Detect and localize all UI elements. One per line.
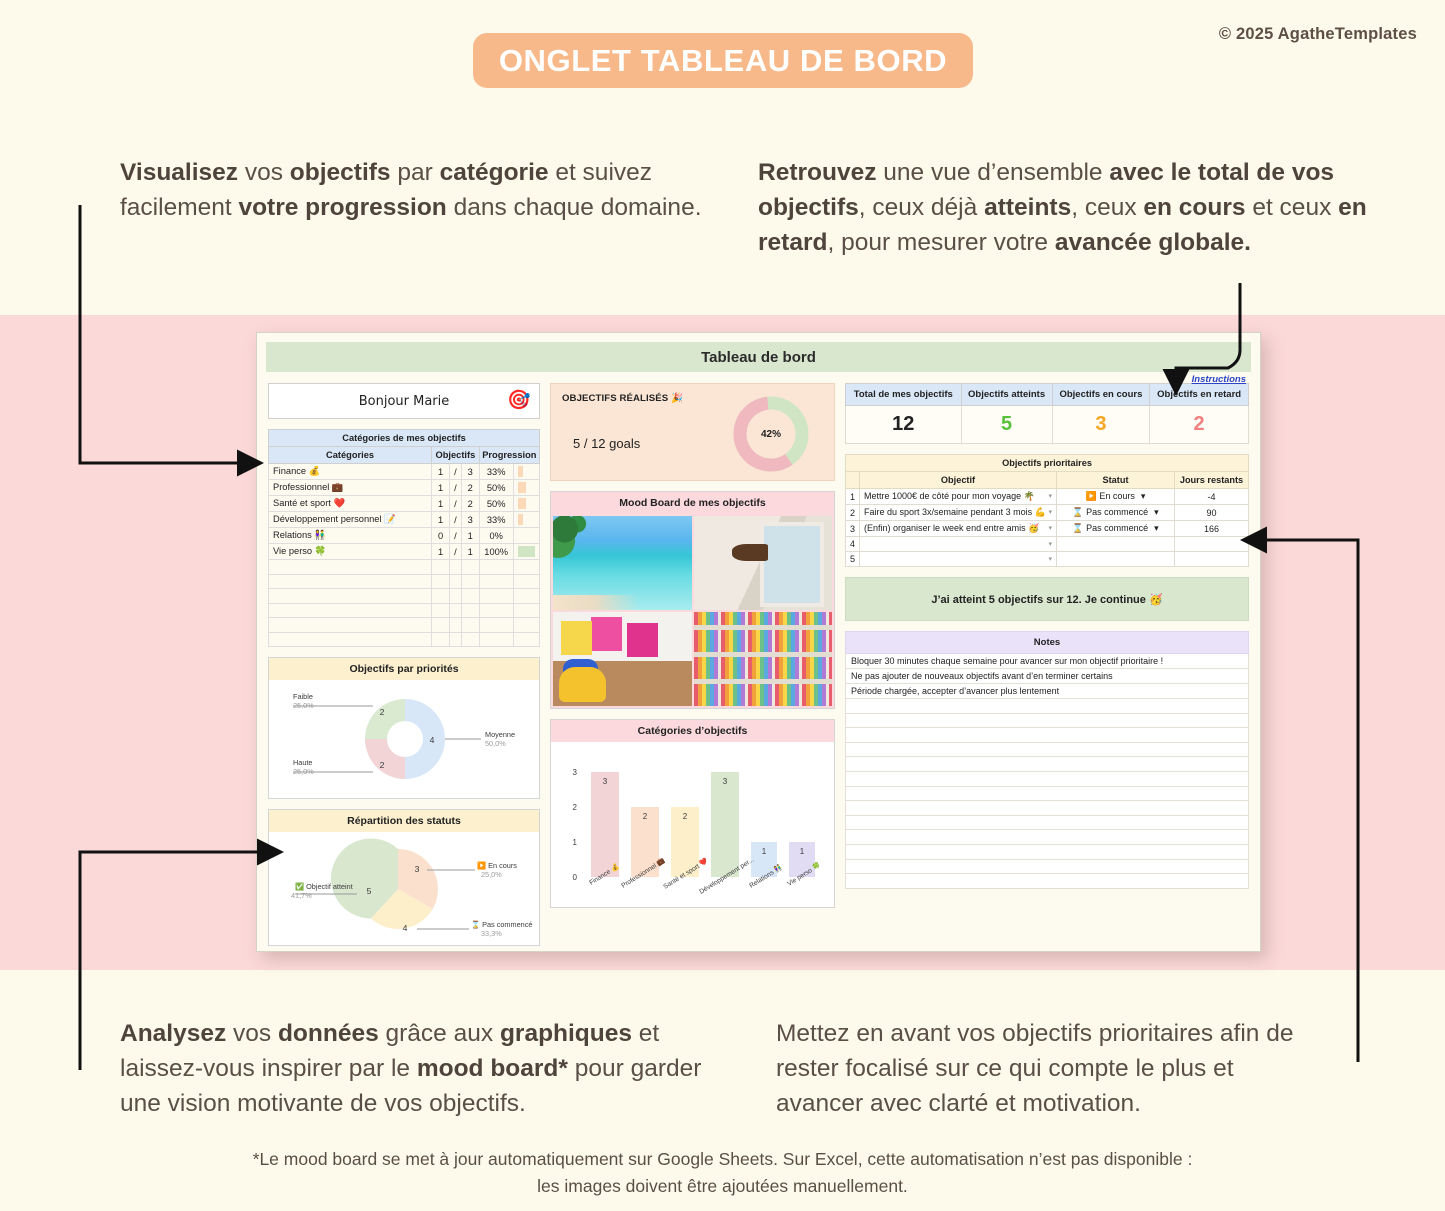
- cat-done: 1: [432, 496, 450, 512]
- categories-table[interactable]: Catégories de mes objectifs Catégories O…: [268, 429, 540, 647]
- list-item-empty[interactable]: [846, 786, 1249, 801]
- cat-name: Relations 👫: [269, 528, 432, 544]
- pri-col-objectif: Objectif: [860, 472, 1057, 489]
- cat-name: Professionnel 💼: [269, 480, 432, 496]
- chevron-down-icon[interactable]: ▾: [1048, 540, 1052, 548]
- cat-name: Vie perso 🍀: [269, 544, 432, 560]
- pri-statut[interactable]: ⌛ Pas commencé▾: [1057, 505, 1175, 521]
- chevron-down-icon[interactable]: ▾: [1048, 555, 1052, 563]
- svg-text:▶️ En cours: ▶️ En cours: [477, 861, 517, 870]
- spreadsheet-window[interactable]: Tableau de bord Instructions Bonjour Mar…: [256, 332, 1261, 952]
- svg-text:41,7%: 41,7%: [291, 891, 312, 900]
- footnote: *Le mood board se met à jour automatique…: [0, 1146, 1445, 1200]
- list-item-empty[interactable]: [846, 713, 1249, 728]
- table-row[interactable]: Relations 👫0/10%: [269, 528, 540, 544]
- cat-progress-bar: [513, 464, 539, 480]
- chevron-down-icon[interactable]: ▾: [1048, 524, 1052, 532]
- status-icon: ⌛: [1072, 523, 1083, 533]
- svg-text:2: 2: [643, 812, 648, 821]
- svg-text:Faible: Faible: [293, 692, 313, 701]
- moodboard-title: Mood Board de mes objectifs: [551, 492, 834, 514]
- svg-text:5: 5: [367, 886, 372, 896]
- moodboard-image-house-keys: [694, 516, 833, 610]
- kpi-header-2: Objectifs en cours: [1052, 384, 1150, 406]
- status-icon: ⌛: [1072, 507, 1083, 517]
- priorities-pie-card: Objectifs par priorités 2 2 4: [268, 657, 540, 799]
- sheet-title: Tableau de bord: [266, 342, 1251, 372]
- pri-jours-restants: 166: [1175, 521, 1249, 537]
- moodboard-image-bookshelf-reading: [694, 612, 833, 706]
- pri-index: 4: [846, 537, 860, 552]
- cat-total: 2: [461, 496, 479, 512]
- objectifs-realises-card: OBJECTIFS RÉALISÉS 🎉 5 / 12 goals 42%: [550, 383, 835, 481]
- table-row[interactable]: Vie perso 🍀1/1100%: [269, 544, 540, 560]
- chevron-down-icon[interactable]: ▾: [1048, 508, 1052, 516]
- table-row-empty[interactable]: [269, 603, 540, 618]
- cat-progress-bar: [513, 496, 539, 512]
- list-item-empty[interactable]: [846, 801, 1249, 816]
- table-row[interactable]: 2Faire du sport 3x/semaine pendant 3 moi…: [846, 505, 1249, 521]
- cat-sep: /: [450, 528, 462, 544]
- svg-text:1: 1: [800, 847, 805, 856]
- kpi-header-0: Total de mes objectifs: [846, 384, 962, 406]
- kpi-value-0: 12: [846, 406, 962, 444]
- moodboard-grid: [551, 514, 834, 708]
- svg-text:3: 3: [723, 777, 728, 786]
- table-row[interactable]: Finance 💰1/333%: [269, 464, 540, 480]
- svg-text:⌛ Pas commencé: ⌛ Pas commencé: [471, 920, 532, 929]
- priorities-table-body: 1Mettre 1000€ de côté pour mon voyage 🌴▾…: [846, 489, 1249, 567]
- pri-objectif[interactable]: (Enfin) organiser le week end entre amis…: [860, 521, 1057, 537]
- pri-index: 1: [846, 489, 860, 505]
- table-row[interactable]: Développement personnel 📝1/333%: [269, 512, 540, 528]
- cat-sep: /: [450, 464, 462, 480]
- statuts-pie-card: Répartition des statuts 3 4 5: [268, 809, 540, 946]
- cat-total: 3: [461, 512, 479, 528]
- pri-objectif[interactable]: Mettre 1000€ de côté pour mon voyage 🌴▾: [860, 489, 1057, 505]
- callout-top-right: Retrouvez une vue d’ensemble avec le tot…: [758, 156, 1368, 260]
- footnote-line-1: *Le mood board se met à jour automatique…: [0, 1146, 1445, 1173]
- column-left: Bonjour Marie 🎯 Catégories de mes object…: [268, 383, 540, 946]
- chevron-down-icon[interactable]: ▾: [1141, 491, 1146, 501]
- cat-done: 0: [432, 528, 450, 544]
- priorities-card: Objectifs prioritaires Objectif Statut J…: [845, 454, 1249, 567]
- cat-done: 1: [432, 464, 450, 480]
- cat-sep: /: [450, 480, 462, 496]
- table-row-empty[interactable]: [269, 589, 540, 604]
- kpi-header-row: Total de mes objectifsObjectifs atteints…: [846, 384, 1249, 406]
- list-item[interactable]: Période chargée, accepter d’avancer plus…: [846, 684, 1249, 699]
- table-row-empty[interactable]: [269, 618, 540, 633]
- cat-done: 1: [432, 480, 450, 496]
- list-item-empty[interactable]: [846, 742, 1249, 757]
- cat-sep: /: [450, 544, 462, 560]
- cat-progress-bar: [513, 528, 539, 544]
- list-item-empty[interactable]: [846, 771, 1249, 786]
- svg-text:25,0%: 25,0%: [293, 767, 314, 776]
- pri-jours-restants: -4: [1175, 489, 1249, 505]
- instructions-link[interactable]: Instructions: [1192, 374, 1246, 385]
- pri-col-jours: Jours restants: [1175, 472, 1249, 489]
- svg-text:4: 4: [403, 923, 408, 933]
- svg-text:2: 2: [573, 803, 578, 812]
- svg-text:Moyenne: Moyenne: [485, 730, 515, 739]
- cat-sep: /: [450, 496, 462, 512]
- cat-name: Développement personnel 📝: [269, 512, 432, 528]
- priorities-card-title: Objectifs prioritaires: [846, 455, 1249, 472]
- list-item-empty[interactable]: [846, 874, 1249, 889]
- table-row[interactable]: 5▾: [846, 552, 1249, 567]
- svg-text:2: 2: [380, 760, 385, 770]
- cat-pct: 33%: [479, 464, 513, 480]
- svg-text:1: 1: [762, 847, 767, 856]
- pri-statut[interactable]: [1057, 537, 1175, 552]
- cat-done: 1: [432, 544, 450, 560]
- callout-bottom-right: Mettez en avant vos objectifs prioritair…: [776, 1017, 1321, 1121]
- note-text: Période chargée, accepter d’avancer plus…: [846, 684, 1249, 699]
- table-row[interactable]: 3(Enfin) organiser le week end entre ami…: [846, 521, 1249, 537]
- pri-index: 2: [846, 505, 860, 521]
- table-row[interactable]: 1Mettre 1000€ de côté pour mon voyage 🌴▾…: [846, 489, 1249, 505]
- list-item-empty[interactable]: [846, 757, 1249, 772]
- list-item-empty[interactable]: [846, 859, 1249, 874]
- moodboard-image-beach: [553, 516, 692, 610]
- col-header-progression: Progression: [479, 447, 539, 464]
- notes-card: Notes Bloquer 30 minutes chaque semaine …: [845, 631, 1249, 889]
- pri-statut[interactable]: ▶️ En cours▾: [1057, 489, 1175, 505]
- svg-text:50,0%: 50,0%: [485, 739, 506, 748]
- cat-name: Santé et sport ❤️: [269, 496, 432, 512]
- moodboard-image-colorful-office: [553, 612, 692, 706]
- chevron-down-icon[interactable]: ▾: [1154, 507, 1159, 517]
- categories-bar-title: Catégories d’objectifs: [551, 720, 834, 742]
- pri-jours-restants: [1175, 552, 1249, 567]
- svg-text:Haute: Haute: [293, 758, 312, 767]
- column-middle: OBJECTIFS RÉALISÉS 🎉 5 / 12 goals 42% Mo…: [550, 383, 835, 946]
- column-right: Total de mes objectifsObjectifs atteints…: [845, 383, 1249, 946]
- svg-text:3: 3: [573, 768, 578, 777]
- svg-text:4: 4: [430, 735, 435, 745]
- kpi-header-1: Objectifs atteints: [961, 384, 1052, 406]
- page-title-pill: ONGLET TABLEAU DE BORD: [473, 33, 973, 88]
- notes-table[interactable]: Notes Bloquer 30 minutes chaque semaine …: [845, 631, 1249, 889]
- chevron-down-icon[interactable]: ▾: [1048, 492, 1052, 500]
- cat-pct: 100%: [479, 544, 513, 560]
- cat-pct: 0%: [479, 528, 513, 544]
- pri-jours-restants: [1175, 537, 1249, 552]
- categories-card-title: Catégories de mes objectifs: [269, 430, 540, 447]
- cat-progress-bar: [513, 544, 539, 560]
- table-row-empty[interactable]: [269, 632, 540, 647]
- kpi-value-1: 5: [961, 406, 1052, 444]
- moodboard-card: Mood Board de mes objectifs: [550, 491, 835, 709]
- copyright-text: © 2025 AgatheTemplates: [1219, 25, 1417, 44]
- cat-pct: 50%: [479, 480, 513, 496]
- svg-text:✅ Objectif atteint: ✅ Objectif atteint: [295, 882, 353, 891]
- callout-top-left: Visualisez vos objectifs par catégorie e…: [120, 156, 740, 226]
- greeting-text: Bonjour Marie: [359, 394, 450, 409]
- list-item-empty[interactable]: [846, 699, 1249, 714]
- table-row[interactable]: Santé et sport ❤️1/250%: [269, 496, 540, 512]
- notes-table-body: Bloquer 30 minutes chaque semaine pour a…: [846, 654, 1249, 889]
- pri-jours-restants: 90: [1175, 505, 1249, 521]
- pri-index: 5: [846, 552, 860, 567]
- cat-total: 2: [461, 480, 479, 496]
- note-text: Bloquer 30 minutes chaque semaine pour a…: [846, 654, 1249, 669]
- svg-text:1: 1: [573, 838, 578, 847]
- chevron-down-icon[interactable]: ▾: [1154, 523, 1159, 533]
- notes-card-title: Notes: [846, 632, 1249, 654]
- priorities-table[interactable]: Objectifs prioritaires Objectif Statut J…: [845, 454, 1249, 567]
- list-item-empty[interactable]: [846, 728, 1249, 743]
- cat-pct: 50%: [479, 496, 513, 512]
- pri-objectif[interactable]: Faire du sport 3x/semaine pendant 3 mois…: [860, 505, 1057, 521]
- objectifs-realises-goals: 5 / 12 goals: [573, 436, 640, 451]
- goal-target-icon: 🎯: [507, 388, 531, 411]
- kpi-value-3: 2: [1150, 406, 1249, 444]
- greeting-cell[interactable]: Bonjour Marie 🎯: [268, 383, 540, 419]
- svg-text:25,0%: 25,0%: [481, 870, 502, 879]
- cat-sep: /: [450, 512, 462, 528]
- callout-bottom-left: Analysez vos données grâce aux graphique…: [120, 1017, 720, 1121]
- pri-index: 3: [846, 521, 860, 537]
- list-item-empty[interactable]: [846, 844, 1249, 859]
- list-item[interactable]: Ne pas ajouter de nouveaux objectifs ava…: [846, 669, 1249, 684]
- col-header-categories: Catégories: [269, 447, 432, 464]
- cat-progress-bar: [513, 480, 539, 496]
- list-item-empty[interactable]: [846, 815, 1249, 830]
- note-text: Ne pas ajouter de nouveaux objectifs ava…: [846, 669, 1249, 684]
- pri-statut[interactable]: ⌛ Pas commencé▾: [1057, 521, 1175, 537]
- kpi-table[interactable]: Total de mes objectifsObjectifs atteints…: [845, 383, 1249, 444]
- list-item[interactable]: Bloquer 30 minutes chaque semaine pour a…: [846, 654, 1249, 669]
- svg-text:3: 3: [415, 864, 420, 874]
- cat-total: 1: [461, 544, 479, 560]
- col-header-objectifs: Objectifs: [432, 447, 480, 464]
- pri-objectif[interactable]: ▾: [860, 552, 1057, 567]
- table-row[interactable]: 4▾: [846, 537, 1249, 552]
- kpi-header-3: Objectifs en retard: [1150, 384, 1249, 406]
- pri-col-statut: Statut: [1057, 472, 1175, 489]
- objectifs-realises-percent: 42%: [761, 429, 781, 440]
- table-row[interactable]: Professionnel 💼1/250%: [269, 480, 540, 496]
- status-icon: ▶️: [1086, 491, 1097, 501]
- statuts-pie-chart: 3 4 5 ✅ Objectif atteint 41,7% ▶️ En cou…: [269, 832, 539, 945]
- list-item-empty[interactable]: [846, 830, 1249, 845]
- svg-text:2: 2: [683, 812, 688, 821]
- categories-table-body: Finance 💰1/333%Professionnel 💼1/250%Sant…: [269, 464, 540, 647]
- page-title: ONGLET TABLEAU DE BORD: [499, 43, 947, 79]
- table-row-empty[interactable]: [269, 560, 540, 575]
- achievement-banner: J’ai atteint 5 objectifs sur 12. Je cont…: [845, 577, 1249, 621]
- svg-text:3: 3: [603, 777, 608, 786]
- cat-total: 1: [461, 528, 479, 544]
- svg-text:0: 0: [573, 873, 578, 882]
- kpi-value-row: 12532: [846, 406, 1249, 444]
- objectifs-realises-donut: 42%: [732, 395, 810, 473]
- kpi-value-2: 3: [1052, 406, 1150, 444]
- pri-objectif[interactable]: ▾: [860, 537, 1057, 552]
- cat-done: 1: [432, 512, 450, 528]
- svg-text:2: 2: [380, 707, 385, 717]
- table-row-empty[interactable]: [269, 574, 540, 589]
- pri-statut[interactable]: [1057, 552, 1175, 567]
- footnote-line-2: les images doivent être ajoutées manuell…: [0, 1173, 1445, 1200]
- cat-name: Finance 💰: [269, 464, 432, 480]
- categories-bar-chart: 3 2 1 0 3 2 2 3 1: [551, 742, 834, 907]
- cat-progress-bar: [513, 512, 539, 528]
- statuts-pie-title: Répartition des statuts: [269, 810, 539, 832]
- categories-bar-card: Catégories d’objectifs 3 2 1 0 3: [550, 719, 835, 908]
- priorities-pie-title: Objectifs par priorités: [269, 658, 539, 680]
- cat-total: 3: [461, 464, 479, 480]
- categories-card: Catégories de mes objectifs Catégories O…: [268, 429, 540, 647]
- priorities-pie-chart: 2 2 4 Faible 25,0% Haute 25,0% Moyenne 5…: [269, 680, 539, 798]
- svg-text:25,0%: 25,0%: [293, 701, 314, 710]
- svg-text:33,3%: 33,3%: [481, 929, 502, 938]
- cat-pct: 33%: [479, 512, 513, 528]
